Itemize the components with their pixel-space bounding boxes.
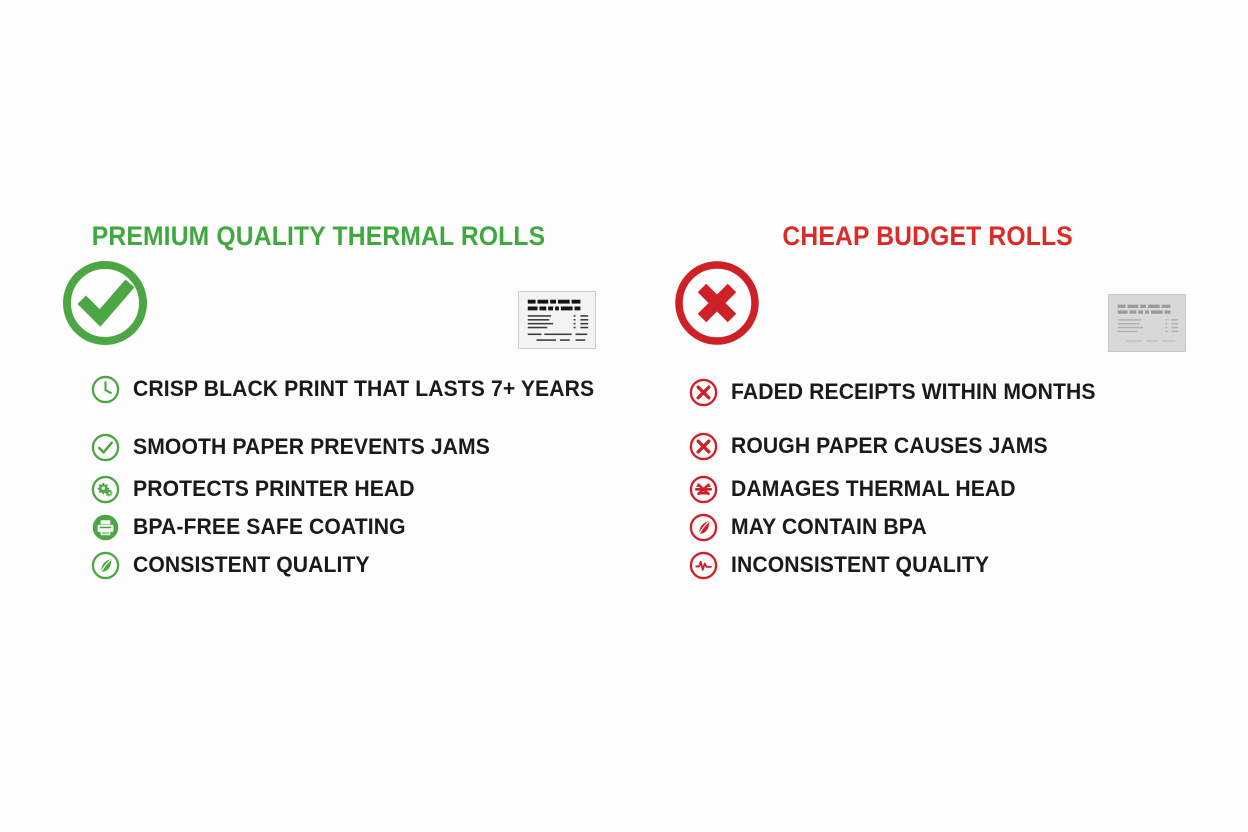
infographic-canvas: PREMIUM QUALITY THERMAL ROLLS — [0, 0, 1248, 832]
premium-column: PREMIUM QUALITY THERMAL ROLLS — [0, 0, 624, 832]
leaf-circle-icon — [688, 512, 719, 543]
feature-row: ROUGH PAPER CAUSES JAMS — [624, 427, 1248, 465]
pulse-circle-icon — [688, 550, 719, 581]
feature-label: CONSISTENT QUALITY — [133, 552, 370, 578]
receipt-thumbnail-crisp — [518, 291, 596, 349]
premium-feature-list: CRISP BLACK PRINT THAT LASTS 7+ YEARS SM… — [0, 370, 624, 584]
feature-label: SMOOTH PAPER PREVENTS JAMS — [133, 434, 490, 460]
feature-row: CRISP BLACK PRINT THAT LASTS 7+ YEARS — [0, 370, 624, 408]
check-circle-icon — [61, 259, 149, 347]
check-circle-icon — [90, 432, 121, 463]
feature-row: MAY CONTAIN BPA — [624, 508, 1248, 546]
feature-row: CONSISTENT QUALITY — [0, 546, 624, 584]
feature-label: FADED RECEIPTS WITHIN MONTHS — [731, 379, 1096, 405]
x-circle-icon — [688, 431, 719, 462]
receipt-thumbnail-faded — [1108, 294, 1186, 352]
budget-column: CHEAP BUDGET ROLLS — [624, 0, 1248, 832]
gears-icon — [90, 474, 121, 505]
leaf-circle-icon — [90, 550, 121, 581]
budget-feature-list: FADED RECEIPTS WITHIN MONTHS ROUGH PAPER… — [624, 373, 1248, 584]
feature-label: PROTECTS PRINTER HEAD — [133, 476, 415, 502]
feature-label: CRISP BLACK PRINT THAT LASTS 7+ YEARS — [133, 376, 594, 402]
feature-row: FADED RECEIPTS WITHIN MONTHS — [624, 373, 1248, 411]
feature-label: ROUGH PAPER CAUSES JAMS — [731, 433, 1048, 459]
printer-icon — [90, 512, 121, 543]
feature-row: BPA-FREE SAFE COATING — [0, 508, 624, 546]
feature-row: INCONSISTENT QUALITY — [624, 546, 1248, 584]
feature-row: SMOOTH PAPER PREVENTS JAMS — [0, 428, 624, 466]
x-circle-icon — [673, 259, 761, 347]
feature-label: MAY CONTAIN BPA — [731, 514, 927, 540]
x-circle-icon — [688, 377, 719, 408]
feature-label: DAMAGES THERMAL HEAD — [731, 476, 1016, 502]
budget-column-title: CHEAP BUDGET ROLLS — [646, 220, 1226, 252]
feature-row: DAMAGES THERMAL HEAD — [624, 470, 1248, 508]
feature-row: PROTECTS PRINTER HEAD — [0, 470, 624, 508]
clock-icon — [90, 374, 121, 405]
feature-label: BPA-FREE SAFE COATING — [133, 514, 406, 540]
premium-column-title: PREMIUM QUALITY THERMAL ROLLS — [22, 220, 602, 252]
broken-head-icon — [688, 474, 719, 505]
feature-label: INCONSISTENT QUALITY — [731, 552, 989, 578]
